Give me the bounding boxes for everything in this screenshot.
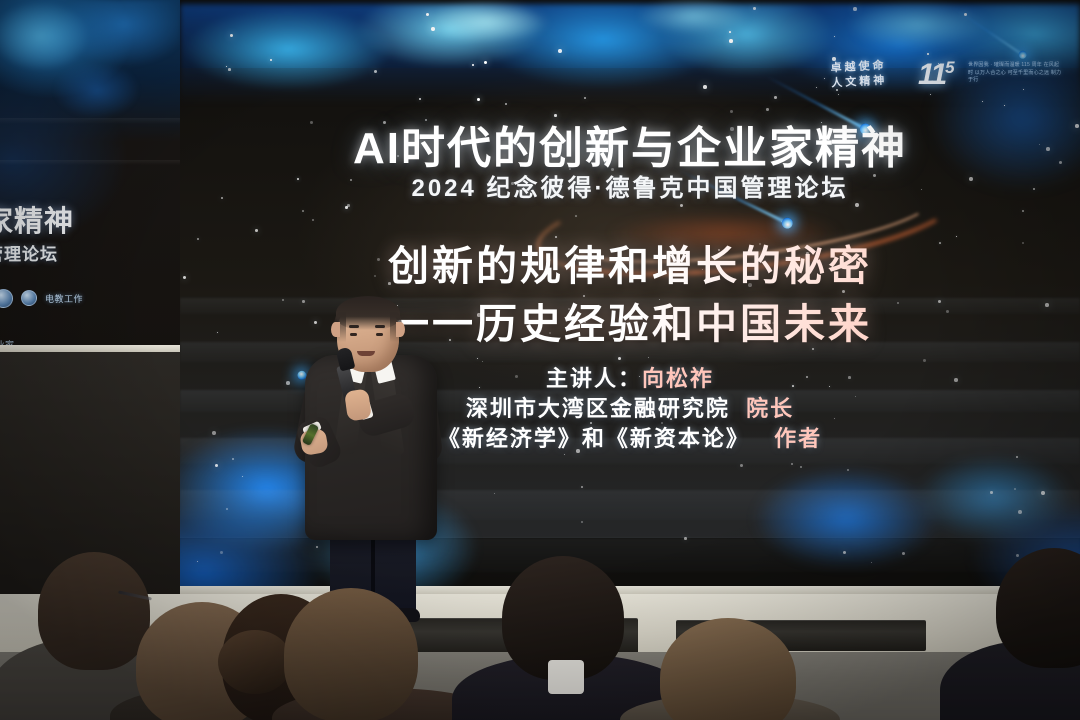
audience-hair-bun — [218, 630, 292, 694]
star-icon — [740, 464, 743, 467]
slide-subheadline: 2024 纪念彼得·德鲁克中国管理论坛 — [180, 168, 1080, 203]
star-icon — [232, 458, 234, 460]
speaker-left-hand — [344, 388, 372, 421]
star-icon — [729, 39, 733, 43]
speaker-mouth — [357, 351, 375, 356]
star-icon — [800, 466, 802, 468]
audience-head — [38, 552, 150, 670]
event-logo: 卓越使命 人文精神 115 世界因我 · 璀璨而温暖 115 周年 在风起时 以… — [790, 56, 1070, 108]
speaker-eye-left — [350, 333, 357, 336]
event-logo-motto-line2: 人文精神 — [831, 75, 888, 90]
star-icon — [230, 34, 233, 37]
slide-headline: AI时代的创新与企业家精神 — [180, 112, 1080, 176]
event-logo-fineprint: 世界因我 · 璀璨而温暖 115 周年 在风起时 以万人合之心 可至千里而心之远… — [968, 62, 1064, 85]
star-icon — [834, 36, 835, 37]
speaker-label: 主讲人： — [546, 366, 642, 391]
star-icon — [581, 486, 583, 488]
left-screen-headline: 业家精神 — [0, 198, 154, 240]
star-icon — [345, 206, 348, 209]
star-icon — [226, 508, 228, 510]
star-icon — [753, 7, 756, 10]
left-screen-nebula — [0, 0, 180, 120]
speaker-org: 深圳市大湾区金融研究院 — [466, 396, 730, 421]
star-icon — [228, 68, 231, 71]
event-logo-motto-line1: 卓越使命 — [830, 60, 887, 75]
left-screen-sponsor-logos: 电教工作 — [0, 287, 164, 309]
left-screen-subhead: 国管理论坛 — [0, 240, 168, 265]
star-icon — [477, 98, 480, 101]
conference-stage-photo: 业家精神 国管理论坛 电教工作 企业家 — [0, 0, 1080, 720]
slide-topic-line-1: 创新的规律和增长的秘密 — [180, 232, 1080, 292]
left-screen-band — [0, 118, 180, 124]
speaker-ear-left — [331, 322, 340, 337]
star-icon — [242, 476, 243, 477]
star-icon — [431, 27, 435, 31]
speaker-brow-right — [375, 325, 385, 328]
star-icon — [472, 64, 474, 66]
screen-panel-band — [180, 538, 1080, 572]
speaker-eye-right — [376, 333, 383, 336]
slide-topic-line-2: 一一历史经验和中国未来 — [180, 290, 1080, 350]
star-icon — [853, 7, 857, 11]
star-icon — [558, 49, 562, 53]
secondary-led-screen-left: 业家精神 国管理论坛 电教工作 企业家 — [0, 0, 180, 355]
speaker-books: 《新经济学》和《新资本论》 — [438, 426, 750, 451]
event-logo-number-sup: 5 — [945, 58, 952, 77]
sponsor-bird-icon — [21, 290, 37, 306]
speaker-name: 向松祚 — [642, 366, 714, 391]
speaker-ear-right — [396, 322, 405, 337]
event-logo-motto: 卓越使命 人文精神 — [803, 57, 914, 93]
star-icon — [684, 537, 687, 540]
star-icon — [729, 31, 731, 33]
sponsor-seal-icon — [0, 289, 13, 308]
event-logo-anniversary: 115 — [918, 58, 953, 92]
star-icon — [1016, 456, 1018, 458]
star-icon — [1018, 510, 1022, 514]
star-icon — [766, 108, 769, 111]
star-icon — [312, 219, 314, 221]
left-screen-band — [0, 160, 180, 165]
star-icon — [226, 66, 227, 67]
speaker-brow-left — [349, 325, 359, 328]
star-icon — [316, 546, 318, 548]
speaker-role: 作者 — [774, 426, 822, 451]
speaker-title: 院长 — [746, 396, 794, 421]
star-icon — [1014, 488, 1016, 490]
star-icon — [302, 210, 304, 212]
sponsor-logo-label: 电教工作 — [45, 292, 83, 305]
star-icon — [564, 454, 565, 455]
star-icon — [774, 96, 777, 99]
star-icon — [990, 491, 993, 494]
audience-head — [284, 588, 418, 720]
event-logo-number: 11 — [918, 58, 945, 91]
star-icon — [648, 357, 649, 358]
star-icon — [703, 85, 707, 89]
star-icon — [1041, 491, 1045, 495]
audience-shirt-collar — [548, 660, 584, 694]
